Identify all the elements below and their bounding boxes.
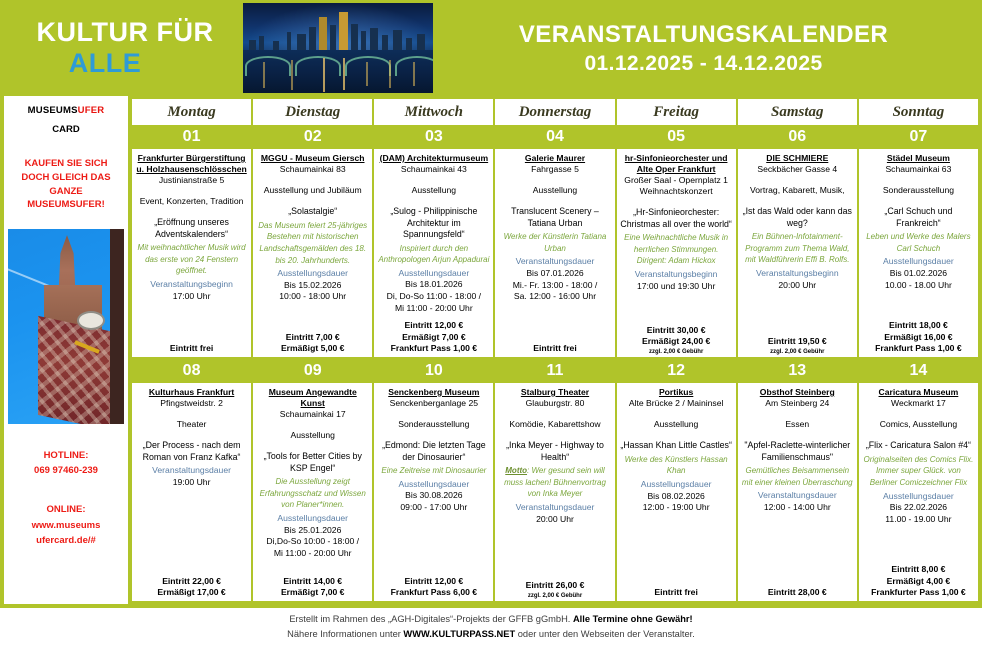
event-price-line: Frankfurt Pass 1,00 € <box>875 343 961 355</box>
event-cell[interactable]: Kulturhaus FrankfurtPfingstweidstr. 2The… <box>132 383 251 601</box>
event-price-line: Eintritt 30,00 € <box>642 325 710 337</box>
event-price-line: Eintritt 7,00 € <box>281 332 345 344</box>
event-price-line: Eintritt 28,00 € <box>768 587 827 599</box>
event-venue: Stalburg Theater <box>521 387 589 398</box>
day-number: 01 <box>132 125 251 149</box>
event-duration-label: Veranstaltungsbeginn <box>635 269 718 281</box>
event-cell[interactable]: MGGU - Museum GierschSchaumainkai 83Auss… <box>253 149 372 357</box>
calendar-page: KULTUR FÜR ALLE <box>0 0 982 645</box>
event-address: Schaumainkai 83 <box>280 164 346 175</box>
day-number: 10 <box>374 359 493 383</box>
event-title: „Der Process - nach dem Roman von Franz … <box>135 440 248 463</box>
event-address: Am Steinberg 24 <box>765 398 829 409</box>
event-price-line: Eintritt 18,00 € <box>875 320 961 332</box>
event-title: „Solastalgie“ <box>288 206 337 217</box>
event-price-line: Eintritt 8,00 € <box>871 564 966 576</box>
event-price: Eintritt 19,50 € <box>768 336 827 348</box>
event-address: Schaumainkai 63 <box>885 164 951 175</box>
event-times: Bis 15.02.202610:00 - 18:00 Uhr <box>279 280 346 303</box>
event-cell[interactable]: Senckenberg MuseumSenckenberganlage 25So… <box>374 383 493 601</box>
event-category: Sonderausstellung <box>883 185 954 196</box>
event-venue: DIE SCHMIERE <box>766 153 828 164</box>
event-cell[interactable]: Galerie MaurerFahrgasse 5AusstellungTran… <box>495 149 614 357</box>
event-times: 20:00 Uhr <box>536 514 574 526</box>
event-times: 19:00 Uhr <box>173 477 211 489</box>
event-fee-note: zzgl. 2,00 € Gebühr <box>528 593 582 599</box>
event-venue: Senckenberg Museum <box>388 387 479 398</box>
event-price-line: Eintritt 22,00 € <box>157 576 225 588</box>
day-number-row-week2: 08 09 10 11 12 13 14 <box>132 359 978 383</box>
day-number: 14 <box>859 359 978 383</box>
page-footer: Erstellt im Rahmen des „AGH-Digitales“-P… <box>0 608 982 645</box>
event-category: Ausstellung <box>654 419 698 430</box>
event-cell[interactable]: (DAM) ArchitekturmuseumSchaumainkai 43Au… <box>374 149 493 357</box>
event-duration-label: Veranstaltungsdauer <box>758 490 837 502</box>
event-price-line: Frankfurter Pass 1,00 € <box>871 587 966 599</box>
event-venue: Frankfurter Bürgerstiftung u. Holzhausen… <box>135 153 248 175</box>
event-title: „Carl Schuch und Frankreich“ <box>862 206 975 229</box>
event-description: Das Museum feiert 25-jähriges Bestehen m… <box>256 220 369 266</box>
event-venue: hr-Sinfonieorchester und Alte Oper Frank… <box>620 153 733 175</box>
event-price: Eintritt frei <box>533 343 576 355</box>
event-venue: Obsthof Steinberg <box>760 387 835 398</box>
footer-line1-text: Erstellt im Rahmen des „AGH-Digitales“-P… <box>289 614 573 624</box>
event-address: Pfingstweidstr. 2 <box>160 398 223 409</box>
day-name-header-row: Montag Dienstag Mittwoch Donnerstag Frei… <box>132 99 978 125</box>
event-description: Inspiriert durch den Anthropologen Arjun… <box>377 243 490 266</box>
event-category: Komödie, Kabarettshow <box>509 419 600 430</box>
event-duration-label: Ausstellungsdauer <box>277 268 348 280</box>
event-address: Glauburgstr. 80 <box>526 398 585 409</box>
event-duration-label: Ausstellungsdauer <box>398 479 469 491</box>
calendar-title-block: VERANSTALTUNGSKALENDER 01.12.2025 - 14.1… <box>433 0 982 96</box>
event-category: Essen <box>785 419 809 430</box>
day-number: 02 <box>253 125 372 149</box>
event-price: Eintritt 18,00 €Ermäßigt 16,00 €Frankfur… <box>875 320 961 355</box>
event-category: Event, Konzerten, Tradition <box>140 196 244 207</box>
event-times: Bis 18.01.2026Di, Do-So 11:00 - 18:00 /M… <box>387 279 481 314</box>
event-duration-label: Ausstellungsdauer <box>883 256 954 268</box>
event-description: Mit weihnachtlicher Musik wird das erste… <box>135 242 248 277</box>
footer-line1-bold: Alle Termine ohne Gewähr! <box>573 614 693 624</box>
event-price-line: Frankfurt Pass 6,00 € <box>391 587 477 599</box>
day-number-row-week1: 01 02 03 04 05 06 07 <box>132 125 978 149</box>
event-address: Fahrgasse 5 <box>531 164 579 175</box>
brand-block: KULTUR FÜR ALLE <box>0 0 240 96</box>
footer-website-link[interactable]: WWW.KULTURPASS.NET <box>403 629 515 639</box>
event-motto-label: Motto <box>505 466 527 475</box>
day-number: 03 <box>374 125 493 149</box>
event-times: Bis 07.01.2026Mi.- Fr. 13:00 - 18:00 /Sa… <box>513 268 598 303</box>
event-venue: Kulturhaus Frankfurt <box>149 387 234 398</box>
event-category: Ausstellung <box>533 185 577 196</box>
event-duration-label: Ausstellungsdauer <box>883 491 954 503</box>
event-title: „Eröffnung unseres Adventskalenders“ <box>135 217 248 240</box>
week-row-1: Frankfurter Bürgerstiftung u. Holzhausen… <box>132 149 978 357</box>
day-number: 11 <box>495 359 614 383</box>
brand-title-line1: KULTUR FÜR <box>37 17 214 48</box>
event-description: Leben und Werke des Malers Carl Schuch <box>862 231 975 254</box>
day-header-sonntag: Sonntag <box>859 99 978 125</box>
event-venue: Städel Museum <box>887 153 950 164</box>
event-description: Die Ausstellung zeigt Erfahrungsschatz u… <box>256 476 369 511</box>
event-duration-label: Ausstellungsdauer <box>641 479 712 491</box>
footer-line2-text: Nähere Informationen unter <box>287 629 403 639</box>
day-number: 12 <box>617 359 736 383</box>
hotline-block: HOTLINE: 069 97460-239 <box>34 448 98 478</box>
event-title: „Hassan Khan Little Castles“ <box>620 440 731 451</box>
event-address: Weckmarkt 17 <box>891 398 946 409</box>
event-price: Eintritt 12,00 €Frankfurt Pass 6,00 € <box>391 576 477 599</box>
event-price: Eintritt 22,00 €Ermäßigt 17,00 € <box>157 576 225 599</box>
event-price-line: Ermäßigt 16,00 € <box>875 332 961 344</box>
event-price-line: Ermäßigt 4,00 € <box>871 576 966 588</box>
calendar-grid: MUSEUMSUFER CARD KAUFEN SIE SICH DOCH GL… <box>0 96 982 608</box>
event-price-line: Ermäßigt 7,00 € <box>281 587 345 599</box>
day-number: 08 <box>132 359 251 383</box>
online-url-line1[interactable]: www.museums <box>32 518 101 533</box>
event-duration-label: Veranstaltungsdauer <box>152 465 231 477</box>
event-times: 17:00 Uhr <box>173 291 211 303</box>
frankfurt-roemer-church-photo <box>8 229 124 424</box>
event-venue: Galerie Maurer <box>525 153 585 164</box>
event-venue: Museum Angewandte Kunst <box>256 387 369 409</box>
event-cell[interactable]: Städel MuseumSchaumainkai 63Sonderausste… <box>859 149 978 357</box>
event-price: Eintritt 14,00 €Ermäßigt 7,00 € <box>281 576 345 599</box>
calendar-date-range: 01.12.2025 - 14.12.2025 <box>584 52 822 76</box>
event-title: „Ist das Wald oder kann das weg? <box>741 206 854 229</box>
event-description: Gemütliches Beisammensein mit einer klei… <box>741 465 854 488</box>
footer-line-2: Nähere Informationen unter WWW.KULTURPAS… <box>287 627 695 641</box>
brand-title-line2: ALLE <box>69 48 142 79</box>
event-price: Eintritt 12,00 €Ermäßigt 7,00 €Frankfurt… <box>391 320 477 355</box>
event-description: Eine Weihnachtliche Musik in herrlichen … <box>620 232 733 267</box>
hotline-number[interactable]: 069 97460-239 <box>34 463 98 478</box>
event-price-line: Eintritt frei <box>533 343 576 355</box>
event-times: Bis 08.02.202612:00 - 19:00 Uhr <box>643 491 710 514</box>
online-label: ONLINE: <box>32 502 101 517</box>
event-cell[interactable]: Caricatura MuseumWeckmarkt 17Comics, Aus… <box>859 383 978 601</box>
event-price: Eintritt 30,00 €Ermäßigt 24,00 € <box>642 325 710 348</box>
event-category: Theater <box>177 419 207 430</box>
event-times: Bis 01.02.202610.00 - 18.00 Uhr <box>885 268 952 291</box>
day-number: 13 <box>738 359 857 383</box>
event-category: Ausstellung <box>412 185 456 196</box>
event-price-line: Eintritt frei <box>654 587 697 599</box>
event-title: „Edmond: Die letzten Tage der Dinosaurie… <box>377 440 490 463</box>
event-category: Vortrag, Kabarett, Musik, <box>750 185 845 196</box>
event-price-line: Ermäßigt 5,00 € <box>281 343 345 355</box>
event-price-line: Ermäßigt 7,00 € <box>391 332 477 344</box>
day-number: 07 <box>859 125 978 149</box>
card-label-prefix: MUSEUMS <box>28 105 78 116</box>
event-venue: Portikus <box>659 387 693 398</box>
event-duration-label: Veranstaltungsdauer <box>516 256 595 268</box>
day-number: 09 <box>253 359 372 383</box>
event-venue: (DAM) Architekturmuseum <box>380 153 489 164</box>
day-header-dienstag: Dienstag <box>253 99 372 125</box>
event-times: 17:00 und 19:30 Uhr <box>637 281 715 293</box>
event-times: Bis 22.02.202611.00 - 19.00 Uhr <box>885 502 951 525</box>
museumsufer-card-label: MUSEUMSUFER <box>28 105 105 116</box>
event-duration-label: Ausstellungsdauer <box>398 268 469 280</box>
event-cell[interactable]: Frankfurter Bürgerstiftung u. Holzhausen… <box>132 149 251 357</box>
event-duration-label: Ausstellungsdauer <box>277 513 348 525</box>
day-header-mittwoch: Mittwoch <box>374 99 493 125</box>
event-price: Eintritt 7,00 €Ermäßigt 5,00 € <box>281 332 345 355</box>
day-header-montag: Montag <box>132 99 251 125</box>
online-url-line2[interactable]: ufercard.de/# <box>32 533 101 548</box>
promo-text: KAUFEN SIE SICH DOCH GLEICH DAS GANZE MU… <box>4 157 128 212</box>
event-price-line: Eintritt 12,00 € <box>391 320 477 332</box>
event-title: „Inka Meyer - Highway to Health“ <box>498 440 611 463</box>
event-price-line: Ermäßigt 24,00 € <box>642 336 710 348</box>
event-cell[interactable]: Stalburg TheaterGlauburgstr. 80Komödie, … <box>495 383 614 601</box>
event-price-line: Eintritt 26,00 € <box>526 580 585 592</box>
event-price-line: Eintritt 12,00 € <box>391 576 477 588</box>
event-price-line: Eintritt 14,00 € <box>281 576 345 588</box>
event-category: Ausstellung und Jubiläum <box>264 185 362 196</box>
day-header-freitag: Freitag <box>617 99 736 125</box>
day-number: 04 <box>495 125 614 149</box>
event-address: Schaumainkai 17 <box>280 409 346 420</box>
day-header-samstag: Samstag <box>738 99 857 125</box>
event-title: "Apfel-Raclette-winterlicher Familiensch… <box>741 440 854 463</box>
event-duration-label: Veranstaltungsdauer <box>516 502 595 514</box>
day-header-donnerstag: Donnerstag <box>495 99 614 125</box>
online-block: ONLINE: www.museums ufercard.de/# <box>32 502 101 548</box>
event-address: Seckbächer Gasse 4 <box>757 164 837 175</box>
museumsufer-card-line2: CARD <box>52 124 79 135</box>
event-cell[interactable]: DIE SCHMIERESeckbächer Gasse 4Vortrag, K… <box>738 149 857 357</box>
event-description: Ein Bühnen-Infotainment-Programm zum The… <box>741 231 854 266</box>
event-fee-note: zzgl. 2,00 € Gebühr <box>649 349 703 355</box>
card-label-suffix: UFER <box>78 105 105 116</box>
event-times: Bis 25.01.2026Di,Do-So 10:00 - 18:00 /Mi… <box>266 525 359 560</box>
event-price-line: Eintritt frei <box>170 343 213 355</box>
event-venue: MGGU - Museum Giersch <box>261 153 365 164</box>
event-times: 12:00 - 14:00 Uhr <box>764 502 831 514</box>
event-category: Sonderausstellung <box>398 419 469 430</box>
event-price: Eintritt 26,00 € <box>526 580 585 592</box>
event-venue: Caricatura Museum <box>879 387 959 398</box>
event-cell[interactable]: Obsthof SteinbergAm Steinberg 24Essen"Ap… <box>738 383 857 601</box>
event-description: Eine Zeitreise mit Dinosaurier <box>381 465 486 477</box>
event-address: Alte Brücke 2 / Maininsel <box>629 398 724 409</box>
event-cell[interactable]: Museum Angewandte KunstSchaumainkai 17Au… <box>253 383 372 601</box>
event-description: Werke des Künstlers Hassan Khan <box>620 454 733 477</box>
week-row-2: Kulturhaus FrankfurtPfingstweidstr. 2The… <box>132 383 978 601</box>
event-fee-note: zzgl. 2,00 € Gebühr <box>770 349 824 355</box>
event-address: Schaumainkai 43 <box>401 164 467 175</box>
footer-line-1: Erstellt im Rahmen des „AGH-Digitales“-P… <box>289 612 692 626</box>
event-title: Translucent Scenery – Tatiana Urban <box>498 206 611 229</box>
event-cell[interactable]: hr-Sinfonieorchester und Alte Oper Frank… <box>617 149 736 357</box>
day-number: 06 <box>738 125 857 149</box>
event-address: Großer Saal - Opernplatz 1Weihnachtskonz… <box>624 175 728 197</box>
event-times: Bis 30.08.202609:00 - 17:00 Uhr <box>400 490 467 513</box>
event-price-line: Ermäßigt 17,00 € <box>157 587 225 599</box>
page-header: KULTUR FÜR ALLE <box>0 0 982 96</box>
event-category: Ausstellung <box>290 430 334 441</box>
event-price-line: Frankfurt Pass 1,00 € <box>391 343 477 355</box>
event-times: 20:00 Uhr <box>778 280 816 292</box>
museumsufer-sidebar: MUSEUMSUFER CARD KAUFEN SIE SICH DOCH GL… <box>4 96 128 604</box>
event-duration-label: Veranstaltungsbeginn <box>150 279 233 291</box>
frankfurt-skyline-photo <box>243 3 433 93</box>
event-category: Comics, Ausstellung <box>880 419 957 430</box>
event-description: Werke der Künstlerin Tatiana Urban <box>498 231 611 254</box>
event-price: Eintritt 28,00 € <box>768 587 827 599</box>
event-address: Justinianstraße 5 <box>159 175 224 186</box>
event-title: „Flix - Caricatura Salon #4“ <box>866 440 971 451</box>
event-price: Eintritt 8,00 €Ermäßigt 4,00 €Frankfurte… <box>871 564 966 599</box>
event-title: „Sulog - Philippinische Architektur im S… <box>377 206 490 240</box>
event-address: Senckenberganlage 25 <box>390 398 478 409</box>
event-title: „Hr-Sinfonieorchester: Christmas all ove… <box>620 207 733 230</box>
event-price: Eintritt frei <box>654 587 697 599</box>
event-description: Originalseiten des Comics Flix. Immer su… <box>862 454 975 489</box>
event-description: Motto: Wer gesund sein will muss lachen!… <box>498 465 611 500</box>
event-duration-label: Veranstaltungsbeginn <box>756 268 839 280</box>
event-price: Eintritt frei <box>170 343 213 355</box>
day-number: 05 <box>617 125 736 149</box>
event-title: „Tools for Better Cities by KSP Engel“ <box>256 451 369 474</box>
event-price-line: Eintritt 19,50 € <box>768 336 827 348</box>
event-cell[interactable]: PortikusAlte Brücke 2 / MaininselAusstel… <box>617 383 736 601</box>
calendar-title: VERANSTALTUNGSKALENDER <box>519 21 888 49</box>
footer-line2-tail: oder unter den Webseiten der Veranstalte… <box>515 629 695 639</box>
hotline-label: HOTLINE: <box>34 448 98 463</box>
